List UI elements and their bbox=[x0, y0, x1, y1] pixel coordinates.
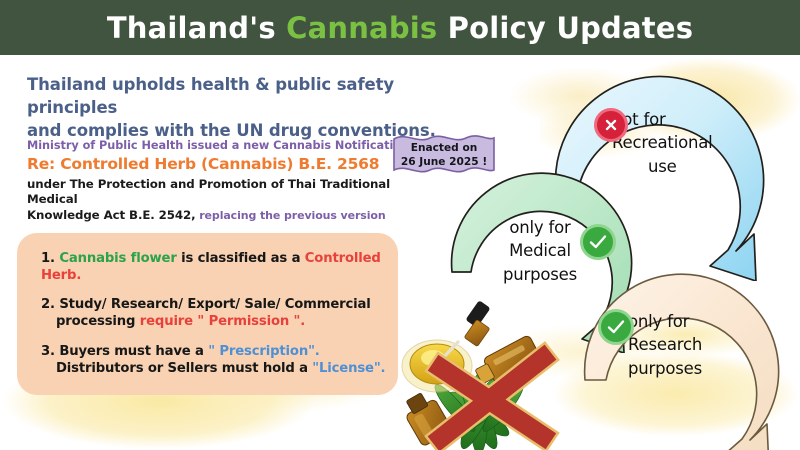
rules-list: 1. Cannabis flower is classified as a Co… bbox=[41, 250, 391, 377]
cannabis-product-photo bbox=[395, 296, 573, 450]
notification-issuer-line: Ministry of Public Health issued a new C… bbox=[27, 138, 412, 153]
infographic-canvas: Thailand's Cannabis Policy Updates Thail… bbox=[0, 0, 800, 450]
cycle-label-research: only for Research purposes bbox=[628, 310, 702, 380]
enacted-line-1: Enacted on bbox=[411, 141, 478, 155]
rule-1-seg-2: is classified as a bbox=[177, 251, 305, 266]
rule-3-sub-seg-1: Distributors or Sellers must hold a bbox=[56, 361, 312, 376]
rule-item-1: 1. Cannabis flower is classified as a Co… bbox=[41, 250, 391, 284]
rule-1-number: 1. bbox=[41, 251, 55, 266]
rules-panel: 1. Cannabis flower is classified as a Co… bbox=[17, 233, 398, 395]
rule-3-seg-2: " Prescription". bbox=[208, 344, 319, 359]
check-mark-glyph bbox=[605, 316, 627, 338]
notification-title-line: Re: Controlled Herb (Cannabis) B.E. 2568 bbox=[27, 154, 412, 175]
medical-line-1: only for bbox=[488, 216, 592, 239]
medical-line-3: purposes bbox=[488, 263, 592, 286]
title-segment-1: Thailand's bbox=[107, 11, 286, 45]
subtitle-line-1: Thailand upholds health & public safety … bbox=[27, 74, 447, 120]
rule-3-number: 3. bbox=[41, 344, 55, 359]
recreational-line-2: Recreational bbox=[612, 131, 713, 154]
rule-3-subline: Distributors or Sellers must hold a "Lic… bbox=[41, 360, 391, 377]
notification-act-main: Knowledge Act B.E. 2542, bbox=[27, 208, 196, 222]
cycle-label-medical: only for Medical purposes bbox=[488, 216, 592, 286]
check-circle-icon-medical bbox=[580, 224, 616, 260]
rule-item-3: 3. Buyers must have a " Prescription". D… bbox=[41, 343, 391, 377]
notification-act-line-1: under The Protection and Promotion of Th… bbox=[27, 177, 412, 208]
x-mark-glyph bbox=[603, 117, 619, 133]
rule-1-seg-1: Cannabis flower bbox=[55, 251, 177, 266]
enacted-date-badge: Enacted on 26 June 2025 ! bbox=[392, 131, 496, 178]
rule-item-2: 2. Study/ Research/ Export/ Sale/ Commer… bbox=[41, 296, 391, 330]
medical-line-2: Medical bbox=[488, 239, 592, 262]
notification-act-line-2: Knowledge Act B.E. 2542, replacing the p… bbox=[27, 208, 412, 224]
enacted-line-2: 26 June 2025 ! bbox=[401, 155, 487, 169]
header-bar: Thailand's Cannabis Policy Updates bbox=[0, 0, 800, 55]
rule-2-number: 2. bbox=[41, 297, 55, 312]
notification-block: Ministry of Public Health issued a new C… bbox=[27, 138, 412, 224]
rule-2-sub-seg-2: require " Permission ". bbox=[140, 314, 305, 329]
page-title: Thailand's Cannabis Policy Updates bbox=[107, 11, 693, 45]
research-line-3: purposes bbox=[628, 357, 702, 380]
title-segment-2: Policy Updates bbox=[437, 11, 693, 45]
rule-3-sub-seg-2: "License". bbox=[312, 361, 385, 376]
recreational-line-3: use bbox=[612, 155, 713, 178]
cannabis-products-illustration bbox=[395, 296, 573, 450]
notification-replacing-note: replacing the previous version bbox=[196, 209, 386, 222]
research-line-2: Research bbox=[628, 333, 702, 356]
check-mark-glyph bbox=[587, 231, 609, 253]
rule-2-subline: processing require " Permission ". bbox=[41, 313, 391, 330]
rule-2-seg-1: Study/ Research/ Export/ Sale/ Commercia… bbox=[55, 297, 371, 312]
title-segment-highlight: Cannabis bbox=[286, 11, 437, 45]
enacted-date-text: Enacted on 26 June 2025 ! bbox=[392, 131, 496, 178]
research-line-1: only for bbox=[628, 310, 702, 333]
subtitle-statement: Thailand upholds health & public safety … bbox=[27, 74, 447, 142]
x-circle-icon bbox=[594, 108, 628, 142]
check-circle-icon-research bbox=[598, 309, 634, 345]
rule-3-seg-1: Buyers must have a bbox=[55, 344, 208, 359]
rule-2-sub-seg-1: processing bbox=[56, 314, 140, 329]
